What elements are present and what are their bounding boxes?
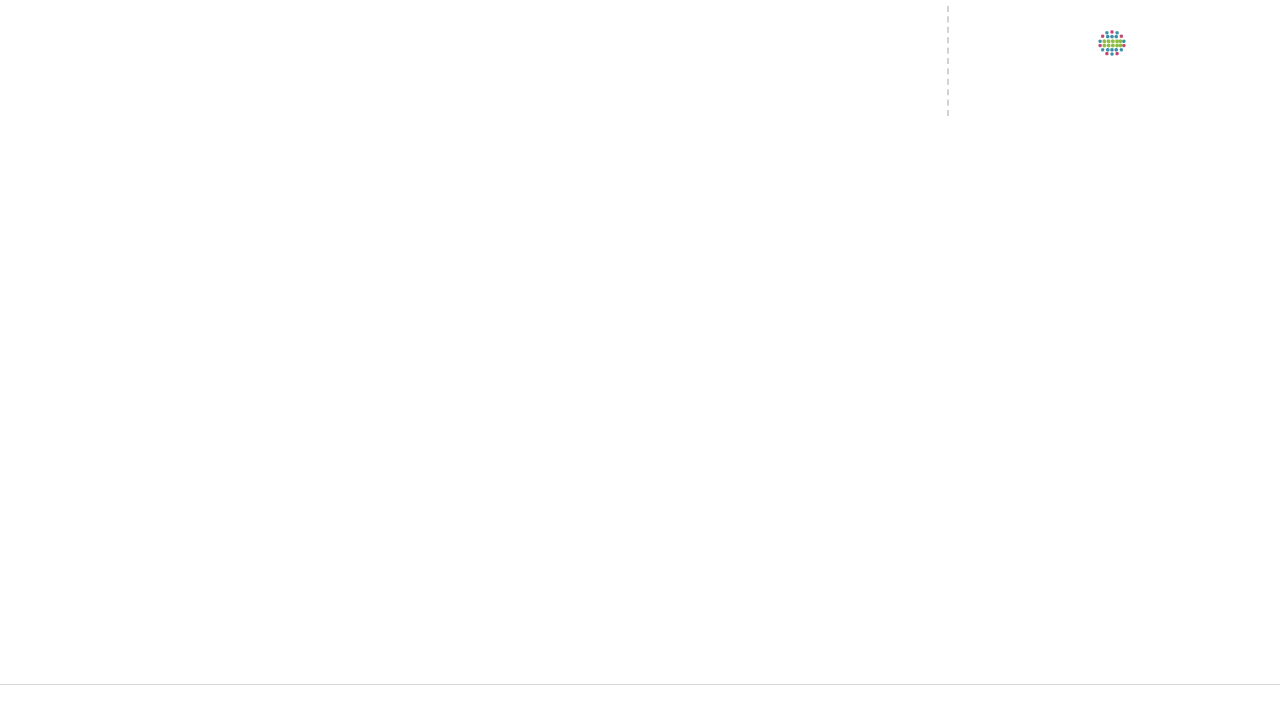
logo-wordmark	[962, 22, 1262, 56]
source-bar	[0, 684, 1280, 720]
slide-header	[0, 0, 1280, 130]
globe-dot-sphere-icon	[1095, 24, 1129, 58]
company-logo	[962, 22, 1262, 63]
logo-divider	[947, 6, 949, 116]
slide-canvas	[0, 0, 1280, 720]
impact-matrix	[0, 138, 1280, 610]
